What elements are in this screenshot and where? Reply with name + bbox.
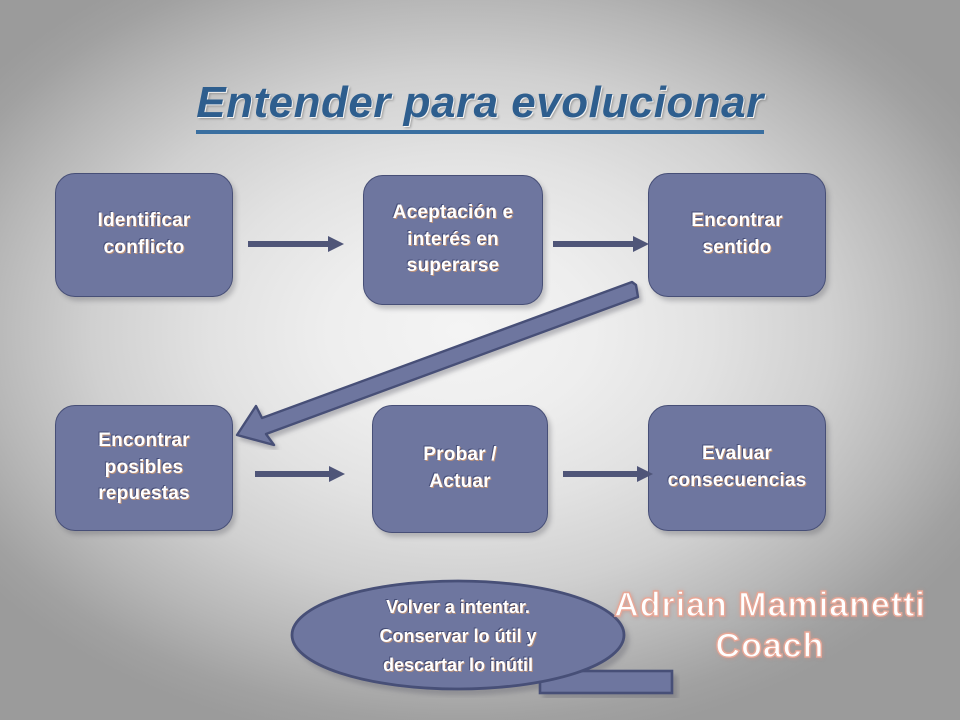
arrow-right-icon-1 [248, 233, 344, 255]
process-box-label: Probar / Actuar [413, 442, 506, 496]
signature-wordart: Adrian Mamianetti Coach [600, 585, 940, 668]
process-box-label: Evaluar consecuencias [658, 441, 817, 495]
process-box-label: Encontrar posibles repuestas [88, 428, 200, 509]
arrow-right-icon-2 [553, 233, 649, 255]
arrow-right-icon-4 [563, 463, 653, 485]
process-box-label: Identificar conflicto [88, 208, 201, 262]
page-title-text: Entender para evolucionar [196, 78, 764, 134]
arrow-right-icon-3 [255, 463, 345, 485]
page-title: Entender para evolucionar [0, 78, 960, 128]
process-box-label: Encontrar sentido [681, 208, 793, 262]
process-box-label: Aceptación e interés en superarse [383, 200, 524, 281]
process-box-encontrar-sentido[interactable]: Encontrar sentido [648, 173, 826, 297]
callout-text: Volver a intentar. Conservar lo útil y d… [293, 593, 623, 680]
process-box-probar-actuar[interactable]: Probar / Actuar [372, 405, 548, 533]
process-box-identificar-conflicto[interactable]: Identificar conflicto [55, 173, 233, 297]
process-box-encontrar-repuestas[interactable]: Encontrar posibles repuestas [55, 405, 233, 531]
process-box-evaluar-consecuencias[interactable]: Evaluar consecuencias [648, 405, 826, 531]
process-box-aceptacion-interes[interactable]: Aceptación e interés en superarse [363, 175, 543, 305]
slide-canvas: Entender para evolucionar Identificar co… [0, 0, 960, 720]
